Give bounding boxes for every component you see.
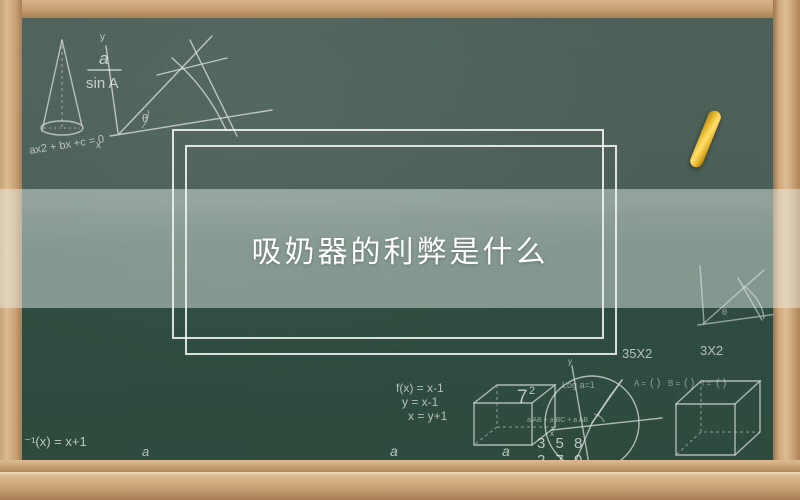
- svg-text:θ: θ: [722, 307, 727, 317]
- svg-text:( ): ( ): [650, 377, 660, 389]
- svg-text:sin A: sin A: [86, 75, 119, 92]
- svg-text:r: r: [598, 409, 601, 418]
- svg-text:( ): ( ): [716, 377, 726, 389]
- formula-fx-group: f(x) = x-1 y = x-1 x = y+1: [396, 381, 448, 423]
- svg-text:a: a: [142, 444, 149, 459]
- formula-a-over-sina-topleft: a sin A: [86, 49, 121, 92]
- page-title: 吸奶器的利弊是什么: [252, 227, 549, 271]
- formula-inverse-function: f ⁻¹(x) = x+1: [22, 434, 87, 449]
- chalk-ledge: [0, 460, 800, 472]
- svg-text:( ): ( ): [684, 377, 694, 389]
- svg-text:B =: B =: [668, 379, 681, 388]
- svg-text:a: a: [390, 443, 398, 459]
- svg-text:f(x) = x-1: f(x) = x-1: [396, 381, 444, 395]
- svg-text:x: x: [96, 140, 101, 151]
- svg-text:y: y: [100, 32, 105, 43]
- svg-text:y = x-1: y = x-1: [402, 395, 439, 409]
- svg-text:a: a: [502, 443, 510, 459]
- cube-drawing-right: [676, 381, 760, 455]
- cone-drawing: [41, 40, 83, 135]
- svg-text:2: 2: [529, 385, 535, 397]
- title-banner-overlay: 吸奶器的利弊是什么: [0, 189, 800, 308]
- svg-text:x = y+1: x = y+1: [408, 409, 448, 423]
- svg-text:3 5 8: 3 5 8: [537, 435, 585, 452]
- label-3x2: 3X2: [700, 343, 723, 358]
- arithmetic-subtraction: 3 5 8 2 7 9 6 3 7: [534, 435, 585, 462]
- svg-text:θ: θ: [142, 113, 148, 125]
- svg-text:y: y: [568, 357, 572, 366]
- matrix-notation: A = ( ) B = ( ) I = ( ): [634, 377, 726, 389]
- svg-text:7: 7: [517, 387, 528, 408]
- label-35x2: 35X2: [622, 346, 652, 361]
- label-log: Log a=1: [562, 380, 595, 390]
- formula-small-abc: a AB + a BC + a AB: [527, 417, 588, 424]
- chalkboard-scene: a sin A ax2 + bx +c = 0 y x: [0, 0, 800, 500]
- frame-bottom-edge: [0, 472, 800, 500]
- formula-quadratic: ax2 + bx +c = 0: [29, 133, 105, 157]
- frame-top-edge: [0, 0, 800, 18]
- svg-text:A =: A =: [634, 379, 646, 388]
